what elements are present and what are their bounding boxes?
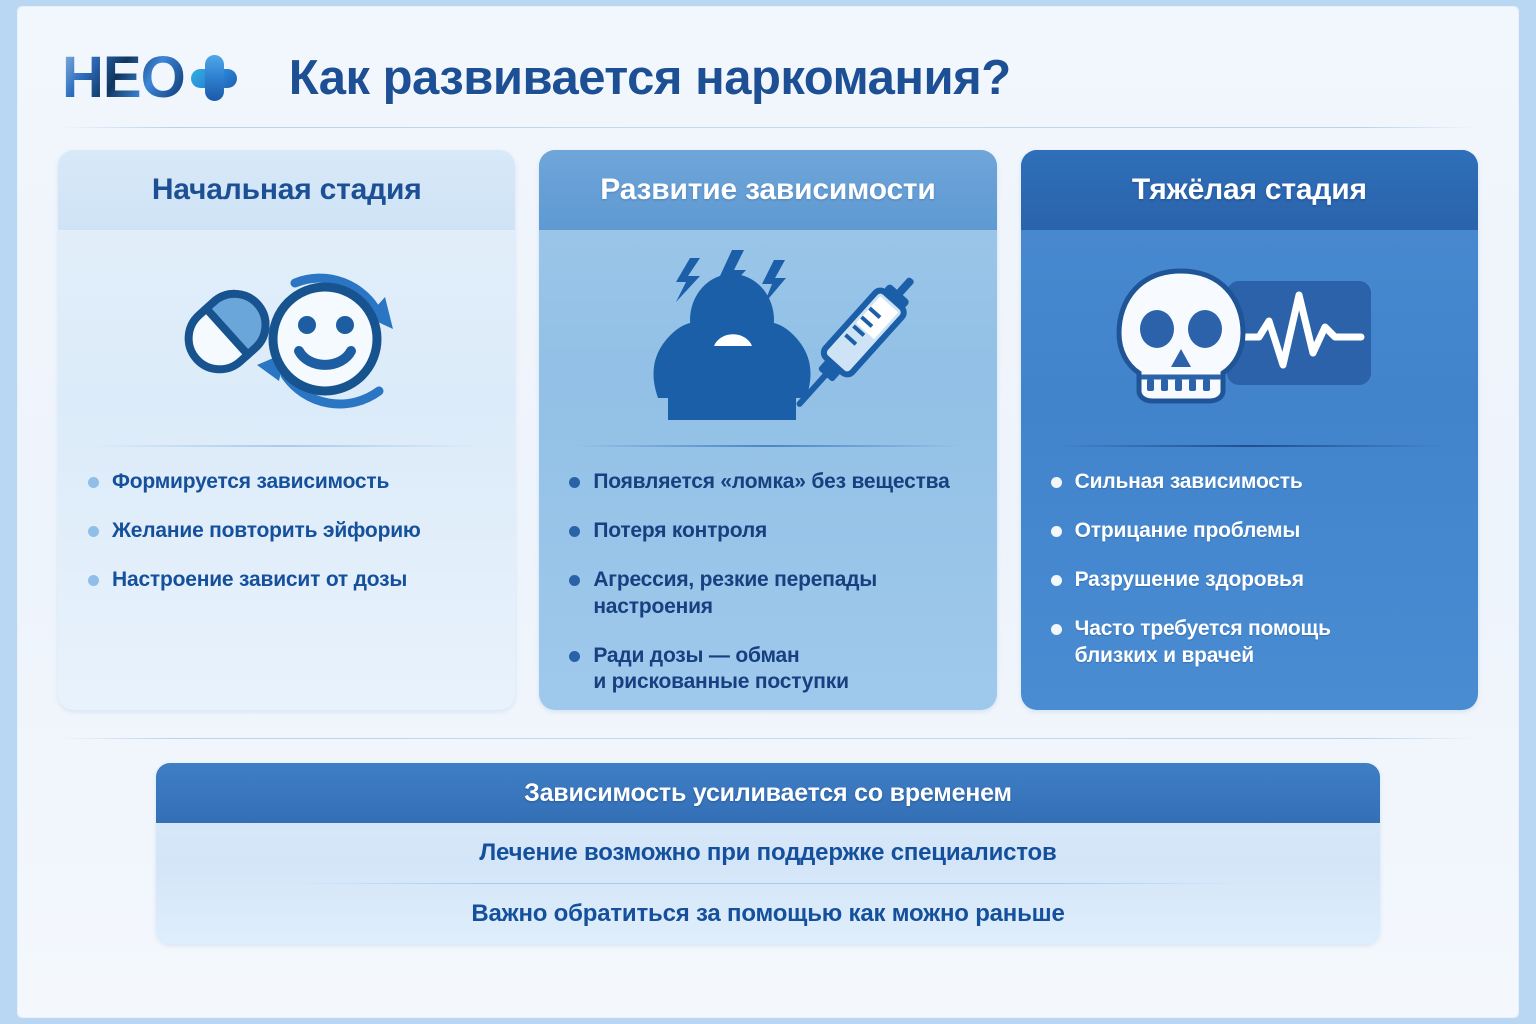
list-item-label: Настроение зависит от дозы xyxy=(112,567,407,594)
bullet-dot xyxy=(569,526,580,537)
stage-card-divider xyxy=(92,445,481,447)
list-item: Сильная зависимость xyxy=(1051,469,1452,496)
list-item: Разрушение здоровья xyxy=(1051,567,1452,594)
stage-card-severe-title: Тяжёлая стадия xyxy=(1021,150,1478,230)
list-item-label: Агрессия, резкие перепады настроения xyxy=(593,567,970,621)
list-item: Формируется зависимость xyxy=(88,469,489,496)
page-title: Как развивается наркомания? xyxy=(289,50,1011,106)
list-item-label: Потеря контроля xyxy=(593,518,767,545)
bullet-dot xyxy=(88,575,99,586)
summary-headline: Зависимость усиливается со временем xyxy=(156,763,1380,823)
bullet-dot xyxy=(88,477,99,488)
stages-row: Начальная стадия xyxy=(54,150,1482,710)
infographic-poster: НЕО Как развивается наркомания? Начальна… xyxy=(18,7,1518,1017)
summary-panel: Зависимость усиливается со временем Лече… xyxy=(156,763,1380,944)
list-item: Появляется «ломка» без вещества xyxy=(569,469,970,496)
plus-icon xyxy=(191,55,237,101)
skull-ecg-icon xyxy=(1021,230,1478,445)
stage-card-initial-list: Формируется зависимость Желание повторит… xyxy=(58,469,515,710)
brand-name: НЕО xyxy=(62,49,185,107)
bullet-dot xyxy=(569,651,580,662)
stage-card-divider xyxy=(573,445,962,447)
list-item-label: Появляется «ломка» без вещества xyxy=(593,469,949,496)
list-item: Желание повторить эйфорию xyxy=(88,518,489,545)
list-item: Ради дозы — обман и рискованные поступки xyxy=(569,643,970,697)
stage-card-developing-title: Развитие зависимости xyxy=(539,150,996,230)
list-item-label: Часто требуется помощь близких и врачей xyxy=(1075,616,1331,670)
stage-card-severe: Тяжёлая стадия xyxy=(1021,150,1478,710)
bullet-dot xyxy=(569,575,580,586)
brand-logo: НЕО xyxy=(62,48,237,108)
stage-card-severe-list: Сильная зависимость Отрицание проблемы Р… xyxy=(1021,469,1478,710)
stage-card-initial-title: Начальная стадия xyxy=(58,150,515,230)
list-item-label: Разрушение здоровья xyxy=(1075,567,1304,594)
list-item: Отрицание проблемы xyxy=(1051,518,1452,545)
list-item: Часто требуется помощь близких и врачей xyxy=(1051,616,1452,670)
footer-divider xyxy=(58,738,1478,739)
bullet-dot xyxy=(569,477,580,488)
bullet-dot xyxy=(1051,477,1062,488)
stage-card-developing-list: Появляется «ломка» без вещества Потеря к… xyxy=(539,469,996,710)
list-item: Настроение зависит от дозы xyxy=(88,567,489,594)
header: НЕО Как развивается наркомания? xyxy=(54,35,1482,121)
list-item-label: Формируется зависимость xyxy=(112,469,389,496)
bullet-dot xyxy=(1051,624,1062,635)
summary-line-1: Лечение возможно при поддержке специалис… xyxy=(156,823,1380,883)
pill-smiley-cycle-icon xyxy=(58,230,515,445)
stage-card-initial: Начальная стадия xyxy=(58,150,515,710)
stage-card-developing: Развитие зависимости xyxy=(539,150,996,710)
list-item-label: Желание повторить эйфорию xyxy=(112,518,421,545)
header-divider xyxy=(58,127,1478,128)
bullet-dot xyxy=(88,526,99,537)
list-item: Потеря контроля xyxy=(569,518,970,545)
bullet-dot xyxy=(1051,575,1062,586)
distressed-person-syringe-icon xyxy=(539,230,996,445)
list-item-label: Сильная зависимость xyxy=(1075,469,1303,496)
stage-card-divider xyxy=(1055,445,1444,447)
list-item: Агрессия, резкие перепады настроения xyxy=(569,567,970,621)
bullet-dot xyxy=(1051,526,1062,537)
summary-line-2: Важно обратиться за помощью как можно ра… xyxy=(156,884,1380,944)
list-item-label: Отрицание проблемы xyxy=(1075,518,1300,545)
list-item-label: Ради дозы — обман и рискованные поступки xyxy=(593,643,848,697)
